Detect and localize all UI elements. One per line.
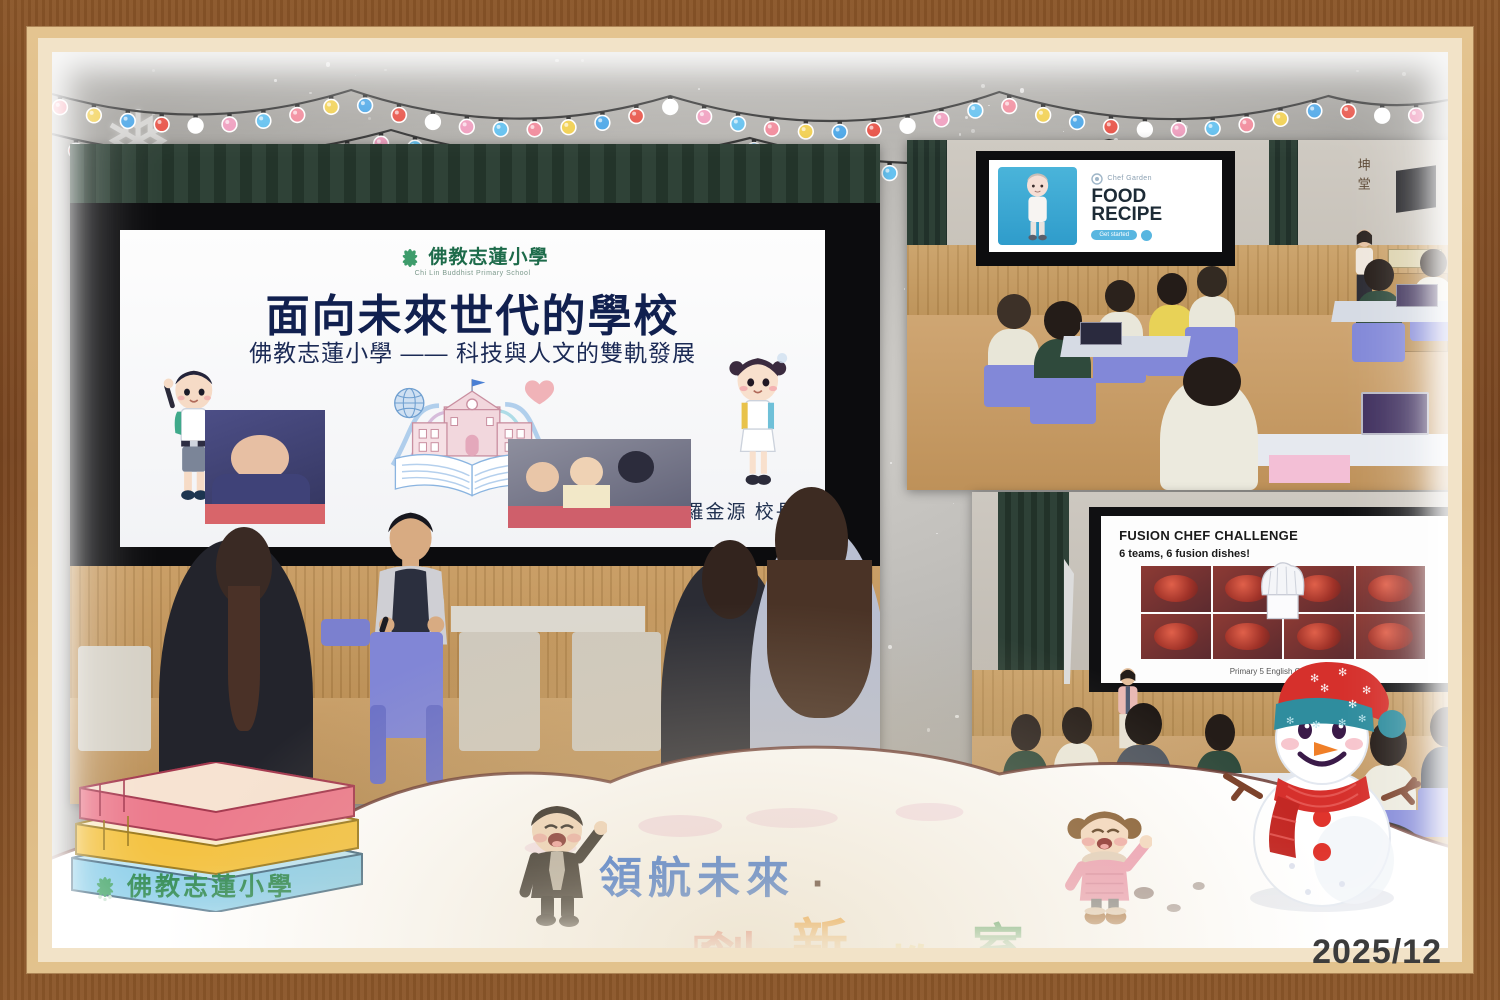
lotus-icon: [397, 244, 423, 268]
student-head: [1044, 301, 1082, 340]
audience-head: [702, 540, 759, 619]
caption-char-jiao: 教: [885, 945, 939, 948]
student-head: [997, 294, 1031, 329]
slide-title-line2: RECIPE: [1091, 205, 1162, 225]
slide-subtitle: 佛教志蓮小學 —— 科技與人文的雙軌發展: [249, 334, 696, 368]
poster: ❅ ❅ ❅ ❅: [0, 0, 1500, 1000]
slide-subtitle: 6 teams, 6 fusion dishes!: [1119, 548, 1250, 560]
student-head: [1197, 266, 1227, 297]
photo-main-keynote: 佛教志蓮小學 Chi Lin Buddhist Primary School 面…: [70, 144, 880, 804]
svg-text:✻: ✻: [1286, 716, 1294, 727]
cartoon-girl-character: [1057, 803, 1152, 928]
student-head: [1364, 259, 1394, 291]
long-hair: [767, 560, 872, 718]
student-head: [1157, 273, 1187, 305]
dish-photo: [1356, 566, 1426, 612]
slide-photo-inset-teacher: [205, 410, 325, 524]
slide-brand: Chef Garden: [1107, 175, 1151, 182]
slide-logo-text-en: Chi Lin Buddhist Primary School: [397, 270, 549, 277]
slide-character-panel: [998, 167, 1077, 245]
slide-photo-inset-classroom: [508, 439, 691, 528]
wall-text: 坤堂: [1354, 158, 1373, 196]
svg-text:✻: ✻: [1310, 673, 1319, 685]
worksheet: [1269, 455, 1350, 483]
slide-school-logo: 佛教志蓮小學 Chi Lin Buddhist Primary School: [397, 242, 549, 277]
projector-screen: Chef Garden FOOD RECIPE Get started: [976, 151, 1235, 267]
classroom-chair: [321, 619, 370, 645]
svg-text:✻: ✻: [1338, 718, 1346, 729]
student-head: [1420, 249, 1447, 278]
caption-dot: ·: [612, 938, 625, 948]
stage-curtain: [1269, 140, 1298, 245]
school-lotus-icon: [88, 872, 122, 902]
svg-text:✻: ✻: [1312, 720, 1320, 731]
caption-char-shi: 室: [972, 924, 1024, 948]
svg-text:✻: ✻: [1362, 685, 1371, 697]
chef-avatar-icon: [998, 167, 1077, 245]
photo-classroom-tablets: 坤堂: [907, 140, 1448, 490]
student-head: [1183, 357, 1241, 406]
slide-cta-button[interactable]: Get started: [1091, 230, 1137, 240]
food-recipe-slide: Chef Garden FOOD RECIPE Get started: [989, 160, 1222, 252]
classroom-chair: [1352, 323, 1405, 362]
ceiling-speaker: [1396, 165, 1436, 213]
caption-dot: ·: [812, 864, 825, 904]
desk: [451, 606, 645, 632]
slide-next-icon[interactable]: [1141, 230, 1152, 241]
cartoon-boy-character: [507, 800, 607, 930]
tablet-device[interactable]: [1361, 392, 1428, 435]
svg-text:✻: ✻: [1348, 699, 1357, 711]
presentation-screen: 佛教志蓮小學 Chi Lin Buddhist Primary School 面…: [120, 230, 825, 547]
caption-char-xin: 新: [792, 918, 848, 948]
chef-garden-logo-icon: [1091, 173, 1103, 185]
tablet-device[interactable]: [1396, 284, 1438, 307]
date-label: 2025/12: [1312, 933, 1442, 972]
dish-photo: [1141, 614, 1211, 660]
slide-title: FUSION CHEF CHALLENGE: [1119, 528, 1298, 543]
slide-logo-text-cn: 佛教志蓮小學: [429, 242, 549, 269]
school-name-label: 佛教志蓮小學: [127, 867, 295, 903]
poster-canvas: ❅ ❅ ❅ ❅: [52, 52, 1448, 948]
svg-text:✻: ✻: [1320, 683, 1329, 695]
dish-photo: [1141, 566, 1211, 612]
snowman-illustration: ✻✻✻ ✻✻ ✻✻✻✻: [1222, 646, 1422, 916]
svg-text:✻: ✻: [1358, 714, 1366, 725]
caption-char-chuang: 創: [700, 932, 756, 948]
classroom-chair: [1030, 378, 1096, 424]
cartoon-girl-illustration: [712, 350, 804, 502]
svg-text:✻: ✻: [1338, 667, 1347, 679]
chef-hat-icon: [1239, 559, 1326, 636]
caption-line-1: 領航未來: [599, 858, 795, 901]
stage-curtain: [998, 492, 1069, 684]
tablet-device[interactable]: [1080, 322, 1122, 345]
